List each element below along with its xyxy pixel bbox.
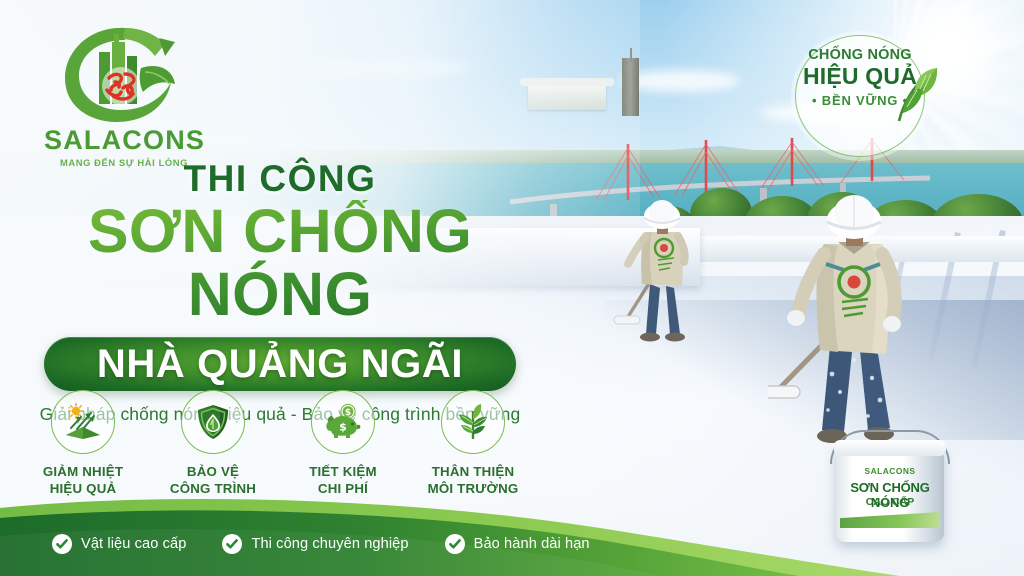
bottom-bar-label: Bảo hành dài hạn bbox=[474, 536, 590, 552]
headline-eyebrow: THI CÔNG bbox=[0, 160, 560, 197]
headline-pill: NHÀ QUẢNG NGÃI bbox=[44, 337, 516, 391]
feature-icon-ring bbox=[181, 390, 245, 454]
feature-icon-ring bbox=[441, 390, 505, 454]
feature-icon-ring bbox=[51, 390, 115, 454]
bottom-bar-item-0[interactable]: Vật liệu cao cấp bbox=[52, 534, 186, 554]
heat-reduction-icon bbox=[63, 402, 103, 442]
svg-text:$: $ bbox=[339, 421, 347, 434]
bucket-brand-label: SALACONS bbox=[836, 466, 944, 476]
feature-item-eco-friendly[interactable]: THÂN THIỆNMÔI TRƯỜNG bbox=[408, 390, 538, 497]
bucket-lid bbox=[834, 440, 946, 456]
headline-main: SƠN CHỐNG NÓNG bbox=[0, 200, 560, 327]
bottom-bar-label: Thi công chuyên nghiệp bbox=[251, 536, 408, 552]
check-circle-icon bbox=[222, 534, 242, 554]
bottom-bar-label: Vật liệu cao cấp bbox=[81, 536, 186, 552]
salacons-logo-mark bbox=[59, 22, 189, 126]
leaf-icon bbox=[893, 67, 941, 125]
feature-item-heat-reduction[interactable]: GIẢM NHIỆTHIỆU QUẢ bbox=[18, 390, 148, 497]
feature-item-cost-saving[interactable]: $ $ TIẾT KIỆMCHI PHÍ bbox=[278, 390, 408, 497]
bottom-bar-item-2[interactable]: Bảo hành dài hạn bbox=[445, 534, 590, 554]
check-circle-icon bbox=[445, 534, 465, 554]
feature-list: GIẢM NHIỆTHIỆU QUẢ BẢO VỆCÔNG TRÌNH bbox=[18, 390, 538, 497]
headline-block: THI CÔNG SƠN CHỐNG NÓNG NHÀ QUẢNG NGÃI G… bbox=[0, 160, 560, 425]
headline-pill-label: NHÀ QUẢNG NGÃI bbox=[97, 344, 463, 384]
bottom-bar-items: Vật liệu cao cấp Thi công chuyên nghiệp … bbox=[52, 534, 590, 554]
logo-brand-name: SALACONS bbox=[44, 127, 204, 154]
piggy-bank-icon: $ $ bbox=[323, 403, 363, 441]
banner-canvas: SALACONS SƠN CHỐNG NÓNG CAO CẤP bbox=[0, 0, 1024, 576]
feature-item-protection[interactable]: BẢO VỆCÔNG TRÌNH bbox=[148, 390, 278, 497]
badge-line-1: CHỐNG NÓNG bbox=[795, 47, 925, 63]
shield-droplet-icon bbox=[194, 403, 232, 441]
check-circle-icon bbox=[52, 534, 72, 554]
promo-badge: CHỐNG NÓNG HIỆU QUẢ • BỀN VỮNG • bbox=[795, 43, 929, 149]
feature-icon-ring: $ $ bbox=[311, 390, 375, 454]
brand-logo[interactable]: SALACONS MANG ĐẾN SỰ HÀI LÒNG bbox=[44, 22, 204, 162]
plant-leaves-icon bbox=[453, 403, 493, 441]
worker-painting-roller-right bbox=[768, 178, 948, 448]
bottom-bar-item-1[interactable]: Thi công chuyên nghiệp bbox=[222, 534, 408, 554]
